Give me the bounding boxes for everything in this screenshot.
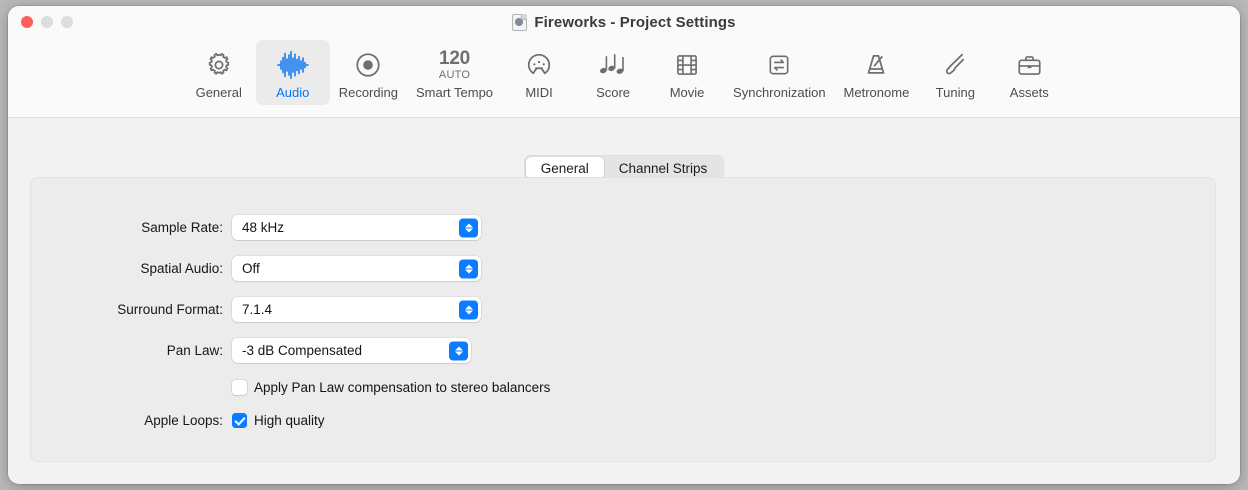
row-surround-format: Surround Format: 7.1.4 xyxy=(31,289,1215,330)
spatial-audio-value: Off xyxy=(242,261,260,276)
pan-law-value: -3 dB Compensated xyxy=(242,343,362,358)
apple-loops-high-quality-label: High quality xyxy=(254,413,325,428)
toolbar-item-metronome[interactable]: Metronome xyxy=(835,40,919,105)
toolbar-item-smart-tempo[interactable]: 120 AUTO Smart Tempo xyxy=(407,40,502,105)
toolbar-item-assets[interactable]: Assets xyxy=(992,40,1066,105)
app-window: Fireworks - Project Settings General xyxy=(0,0,1248,490)
toolbar-label: Metronome xyxy=(844,85,910,100)
row-pan-law-compensation: Apply Pan Law compensation to stereo bal… xyxy=(31,371,1215,404)
music-notes-icon xyxy=(598,46,628,84)
toolbar-item-general[interactable]: General xyxy=(182,40,256,105)
row-apple-loops: Apple Loops: High quality xyxy=(31,404,1215,437)
row-spatial-audio: Spatial Audio: Off xyxy=(31,248,1215,289)
tempo-icon: 120 AUTO xyxy=(439,46,470,84)
toolbar-item-audio[interactable]: Audio xyxy=(256,40,330,105)
chevron-updown-icon[interactable] xyxy=(459,259,478,278)
toolbar-label: Audio xyxy=(276,85,309,100)
surround-format-value: 7.1.4 xyxy=(242,302,272,317)
toolbar-label: Smart Tempo xyxy=(416,85,493,100)
window-controls xyxy=(21,16,73,28)
pan-law-compensation-checkbox[interactable] xyxy=(232,380,247,395)
waveform-icon xyxy=(276,46,310,84)
close-button[interactable] xyxy=(21,16,33,28)
pan-law-compensation-label: Apply Pan Law compensation to stereo bal… xyxy=(254,380,550,395)
row-pan-law: Pan Law: -3 dB Compensated xyxy=(31,330,1215,371)
spatial-audio-popup[interactable]: Off xyxy=(232,256,481,281)
tab-general[interactable]: General xyxy=(526,157,604,179)
toolbar-label: Score xyxy=(596,85,630,100)
title-bar: Fireworks - Project Settings General xyxy=(8,6,1240,118)
toolbar-label: Recording xyxy=(339,85,398,100)
window-title-group: Fireworks - Project Settings xyxy=(8,14,1240,31)
sync-arrows-icon xyxy=(766,46,792,84)
tuning-fork-icon xyxy=(942,46,968,84)
chevron-updown-icon[interactable] xyxy=(459,300,478,319)
film-strip-icon xyxy=(674,46,700,84)
tempo-number: 120 xyxy=(439,49,470,68)
row-sample-rate: Sample Rate: 48 kHz xyxy=(31,207,1215,248)
minimize-button[interactable] xyxy=(41,16,53,28)
toolbar-label: Movie xyxy=(670,85,705,100)
tab-channel-strips[interactable]: Channel Strips xyxy=(604,157,723,179)
window-frame: Fireworks - Project Settings General xyxy=(8,6,1240,484)
record-circle-icon xyxy=(354,46,382,84)
sample-rate-popup[interactable]: 48 kHz xyxy=(232,215,481,240)
toolbar-item-synchronization[interactable]: Synchronization xyxy=(724,40,835,105)
toolbar-label: MIDI xyxy=(525,85,552,100)
gear-icon xyxy=(205,46,233,84)
window-title: Fireworks - Project Settings xyxy=(534,14,735,31)
settings-panel: Sample Rate: 48 kHz Spatial Audio: xyxy=(30,177,1216,462)
chevron-updown-icon[interactable] xyxy=(449,341,468,360)
pan-law-popup[interactable]: -3 dB Compensated xyxy=(232,338,471,363)
midi-plug-icon xyxy=(525,46,553,84)
document-icon xyxy=(512,14,527,31)
sample-rate-value: 48 kHz xyxy=(242,220,284,235)
tempo-mode: AUTO xyxy=(439,70,470,81)
toolbar-item-score[interactable]: Score xyxy=(576,40,650,105)
toolbar-item-tuning[interactable]: Tuning xyxy=(918,40,992,105)
toolbar-item-midi[interactable]: MIDI xyxy=(502,40,576,105)
audio-settings-form: Sample Rate: 48 kHz Spatial Audio: xyxy=(31,207,1215,437)
spatial-audio-label: Spatial Audio: xyxy=(31,261,232,276)
toolbar-item-movie[interactable]: Movie xyxy=(650,40,724,105)
toolbar-label: Assets xyxy=(1010,85,1049,100)
apple-loops-label: Apple Loops: xyxy=(31,413,232,428)
briefcase-icon xyxy=(1016,46,1043,84)
toolbar-item-recording[interactable]: Recording xyxy=(330,40,407,105)
toolbar-label: General xyxy=(196,85,242,100)
pan-law-label: Pan Law: xyxy=(31,343,232,358)
sample-rate-label: Sample Rate: xyxy=(31,220,232,235)
apple-loops-high-quality-checkbox[interactable] xyxy=(232,413,247,428)
settings-body: General Channel Strips Sample Rate: 48 k… xyxy=(8,118,1240,483)
surround-format-label: Surround Format: xyxy=(31,302,232,317)
zoom-button[interactable] xyxy=(61,16,73,28)
surround-format-popup[interactable]: 7.1.4 xyxy=(232,297,481,322)
toolbar-label: Synchronization xyxy=(733,85,826,100)
settings-toolbar: General Audio xyxy=(8,40,1240,114)
metronome-icon xyxy=(862,46,890,84)
chevron-updown-icon[interactable] xyxy=(459,218,478,237)
toolbar-label: Tuning xyxy=(936,85,975,100)
